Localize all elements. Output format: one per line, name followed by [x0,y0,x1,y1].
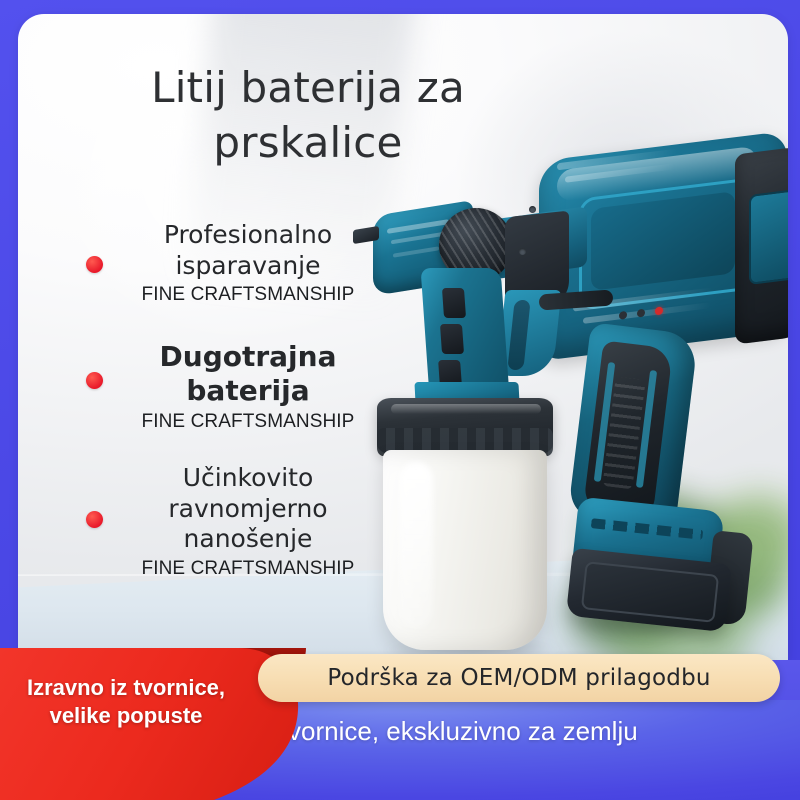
feature-title: Dugotrajna baterija [118,340,378,408]
oem-odm-label: Podrška za OEM/ODM prilagodbu [327,665,710,691]
feature-subtitle: FINE CRAFTSMANSHIP [118,411,378,433]
led-on-icon [655,306,663,315]
feature-title: Profesionalno isparavanje [118,220,378,281]
product-card: Litij baterija za prskalice Profesionaln… [18,14,788,660]
paint-cup-highlight [399,462,433,628]
led-off-icon [637,309,645,318]
rear-cap-inset [749,189,788,285]
red-dot-icon [86,372,103,389]
advertisement-canvas: Litij baterija za prskalice Profesionaln… [0,0,800,800]
feature-subtitle: FINE CRAFTSMANSHIP [118,284,378,306]
oem-odm-badge[interactable]: Podrška za OEM/ODM prilagodbu [258,654,780,702]
feature-title: Učinkovito ravnomjerno nanošenje [118,463,378,555]
screw-icon [529,206,536,213]
led-off-icon [619,311,627,320]
spray-gun-image [343,132,788,660]
screw-icon [519,248,526,255]
list-item: Profesionalno isparavanje FINE CRAFTSMAN… [78,220,378,306]
red-dot-icon [86,511,103,528]
ribbon-label: Izravno iz tvornice, velike popuste [6,674,246,730]
page-title: Litij baterija za prskalice [98,60,518,171]
stem-vent [442,288,466,318]
red-dot-icon [86,256,103,273]
cup-stem [421,268,510,396]
feature-list: Profesionalno isparavanje FINE CRAFTSMAN… [78,220,378,600]
stem-vent [440,324,464,354]
paint-cup-lid-highlight [391,404,541,414]
list-item: Učinkovito ravnomjerno nanošenje FINE CR… [78,463,378,580]
list-item: Dugotrajna baterija FINE CRAFTSMANSHIP [78,340,378,433]
feature-subtitle: FINE CRAFTSMANSHIP [118,558,378,580]
